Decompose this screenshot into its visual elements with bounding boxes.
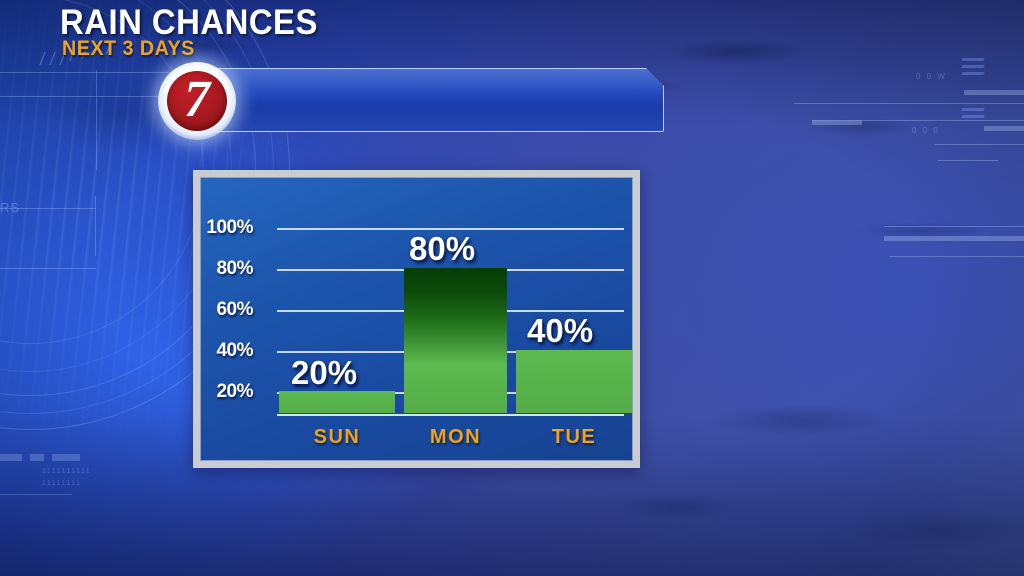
page-subtitle: NEXT 3 DAYS [62, 37, 195, 61]
y-tick-label-40: 40% [216, 340, 253, 362]
y-tick-label-60: 60% [216, 299, 253, 321]
logo-disc: 7 [167, 71, 227, 131]
axis-baseline [277, 414, 624, 416]
bar-mon[interactable] [404, 268, 507, 413]
x-tick-label-sun: SUN [279, 426, 395, 449]
bar-value-sun: 20% [291, 354, 357, 392]
title-banner [196, 68, 664, 132]
x-tick-label-tue: TUE [516, 426, 632, 449]
channel-7-logo: 7 [158, 62, 236, 140]
banner-sheen [197, 69, 663, 131]
bar-sun[interactable] [279, 391, 395, 413]
bar-tue[interactable] [516, 350, 632, 413]
weather-graphic-screen: RS 0 0 W 0 0 0 1111111111 11111111 RAIN … [0, 0, 1024, 576]
chart-plot-area: 100% 80% 60% 40% 20% 20% 80% 40% SUN MON… [200, 177, 633, 461]
logo-number: 7 [167, 71, 227, 131]
hud-right-decoration: 0 0 W 0 0 0 [694, 40, 1024, 320]
hud-label-rs: RS [0, 200, 20, 215]
bar-value-mon: 80% [409, 230, 475, 268]
y-tick-label-100: 100% [206, 217, 253, 239]
chart-panel: 100% 80% 60% 40% 20% 20% 80% 40% SUN MON… [193, 170, 640, 468]
x-tick-label-mon: MON [404, 426, 507, 449]
y-tick-label-80: 80% [216, 258, 253, 280]
bar-value-tue: 40% [527, 312, 593, 350]
y-tick-label-20: 20% [216, 381, 253, 403]
